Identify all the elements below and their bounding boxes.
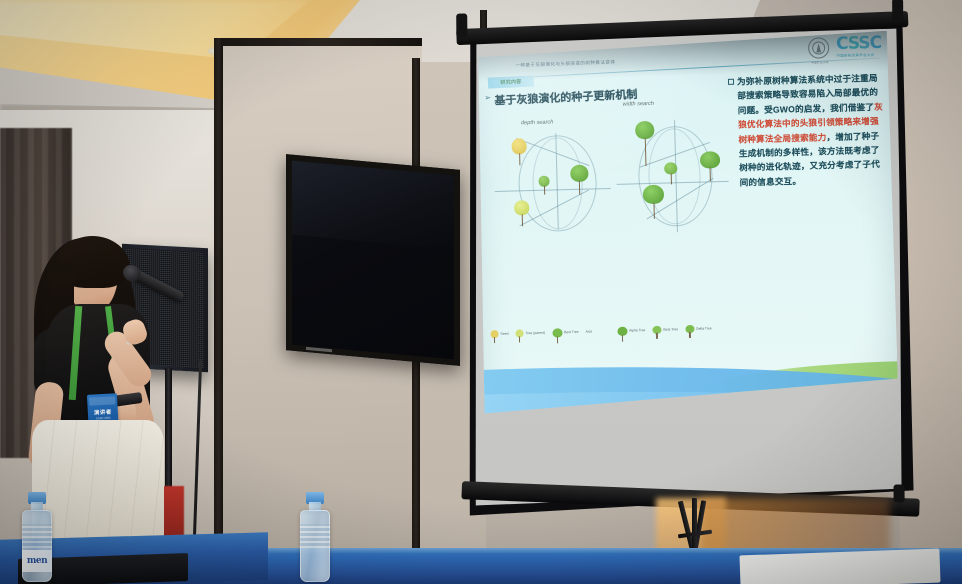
slide-paragraph: 为弥补原树种算法系统中过于注重局部搜索策略导致容易陷入局部最优的问题。受GWO的… (737, 71, 887, 190)
legend-item: Alpha Tree (617, 326, 646, 336)
legend-label: Beta Tree (663, 327, 678, 331)
university-seal-label: 中国矿业大学 (803, 60, 836, 65)
screen-bracket-left (456, 14, 467, 38)
cssc-logo-text: CSSC (836, 35, 881, 53)
wall-television (286, 154, 460, 366)
legend-item: Axis (586, 330, 593, 334)
tree-node (664, 162, 677, 174)
tree-node-best (570, 165, 588, 182)
badge-header-strip (89, 396, 115, 405)
legend-label: Alpha Tree (629, 328, 646, 332)
legend-label: Delta Tree (696, 326, 712, 330)
projection-screen: 一种基于灰狼演化与头狼突变的树种算法变体 中国矿业大学 CSSC 中国系统仿真学… (450, 12, 924, 527)
paragraph-lead: 为弥补原树种算法系统中过于注重局部搜索策略导致容易陷入局部最优的问题。受GWO的… (737, 73, 878, 115)
tree-node (511, 138, 526, 154)
bullet-arrow-icon: ➢ (484, 93, 491, 102)
slide-header-line: 一种基于灰狼演化与头狼突变的树种算法变体 (515, 59, 615, 68)
slide-diagram-legend: Seed Tree (parent) Best Tree Axis Alpha … (490, 315, 790, 345)
screen-bracket-bottom-right (894, 484, 905, 502)
microphone (129, 267, 186, 303)
slide-diagram: depth search width search (487, 99, 733, 320)
conference-photo-scene: 一种基于灰狼演化与头狼突变的树种算法变体 中国矿业大学 CSSC 中国系统仿真学… (0, 0, 962, 584)
legend-item: Tree (parent) (515, 329, 545, 338)
legend-item: Seed (490, 330, 508, 338)
university-seal-icon: 中国矿业大学 (808, 37, 830, 59)
bottle-label: men (22, 550, 52, 572)
tree-node (700, 151, 720, 169)
tree-node (538, 176, 549, 187)
legend-label: Axis (586, 330, 593, 334)
diagram-label-depth-search: depth search (521, 119, 553, 126)
slide-logos: 中国矿业大学 CSSC 中国系统仿真学会大会 (808, 35, 882, 60)
screen-bracket-right (892, 0, 903, 23)
bottle-ribs (22, 524, 52, 548)
tree-node (643, 185, 664, 205)
legend-item: Delta Tree (685, 324, 712, 333)
wall-trim-top (222, 38, 422, 46)
legend-item: Best Tree (552, 327, 579, 337)
projected-slide: 一种基于灰狼演化与头狼突变的树种算法变体 中国矿业大学 CSSC 中国系统仿真学… (475, 31, 899, 414)
tv-glare (292, 161, 454, 249)
diagram-label-width-search: width search (622, 101, 654, 108)
slide-body-text: 为弥补原树种算法系统中过于注重局部搜索策略导致容易陷入局部最优的问题。受GWO的… (728, 71, 887, 190)
bottle-label-text: men (27, 556, 47, 566)
water-bottle: men (22, 492, 52, 582)
bottle-ribs (300, 524, 330, 548)
slide-section-badge-label: 研究内容 (500, 78, 522, 86)
cssc-logo: CSSC 中国系统仿真学会大会 (836, 35, 882, 59)
legend-label: Seed (500, 332, 508, 336)
slide-section-badge: 研究内容 (488, 75, 534, 88)
checkbox-bullet-icon (728, 79, 734, 85)
legend-item: Beta Tree (652, 325, 678, 334)
legend-label: Tree (parent) (525, 331, 545, 336)
tree-node (514, 200, 529, 215)
water-bottle (300, 492, 330, 582)
wall-trim-column (214, 38, 223, 566)
cssc-logo-subtitle: 中国系统仿真学会大会 (836, 53, 874, 59)
legend-label: Best Tree (564, 330, 579, 334)
tree-node (635, 121, 654, 139)
paper-stack (739, 549, 940, 584)
